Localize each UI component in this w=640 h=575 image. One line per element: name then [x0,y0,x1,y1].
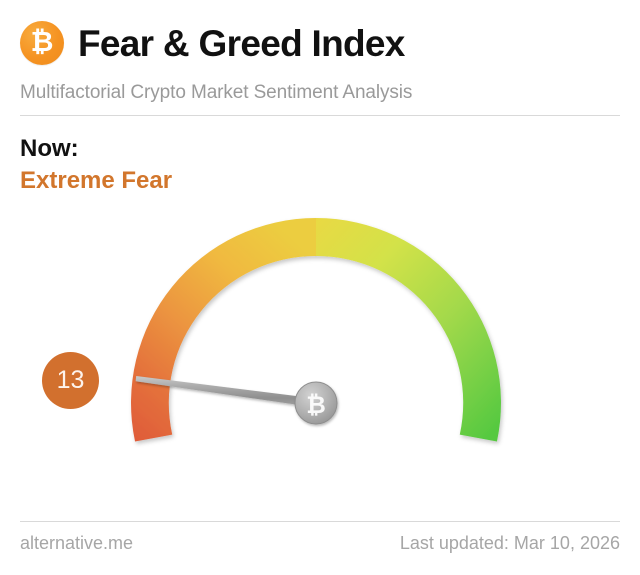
source-link[interactable]: alternative.me [20,533,133,554]
gauge-svg: ₿ [0,190,640,500]
needle-hub: ₿ [295,382,337,424]
brand-row: ₿ Fear & Greed Index [20,14,620,72]
bitcoin-icon: ₿ [20,21,64,65]
hub-bitcoin-icon: ₿ [306,392,326,419]
gauge-arc-left [131,218,316,441]
bitcoin-glyph: ₿ [31,28,54,56]
gauge-arc-right [316,218,501,441]
footer: alternative.me Last updated: Mar 10, 202… [20,533,620,554]
index-value-text: 13 [57,368,85,393]
now-label: Now: [20,135,172,163]
page-title: Fear & Greed Index [78,25,405,62]
current-sentiment-block: Now: Extreme Fear [20,135,172,196]
header-divider [20,115,620,116]
fear-greed-index-widget: ₿ Fear & Greed Index Multifactorial Cryp… [0,0,640,575]
page-subtitle: Multifactorial Crypto Market Sentiment A… [20,82,620,104]
gauge: ₿ [0,190,640,500]
header: ₿ Fear & Greed Index Multifactorial Cryp… [20,14,620,106]
footer-divider [20,521,620,522]
last-updated-label: Last updated: Mar 10, 2026 [400,533,620,554]
index-value-badge: 13 [42,352,99,409]
